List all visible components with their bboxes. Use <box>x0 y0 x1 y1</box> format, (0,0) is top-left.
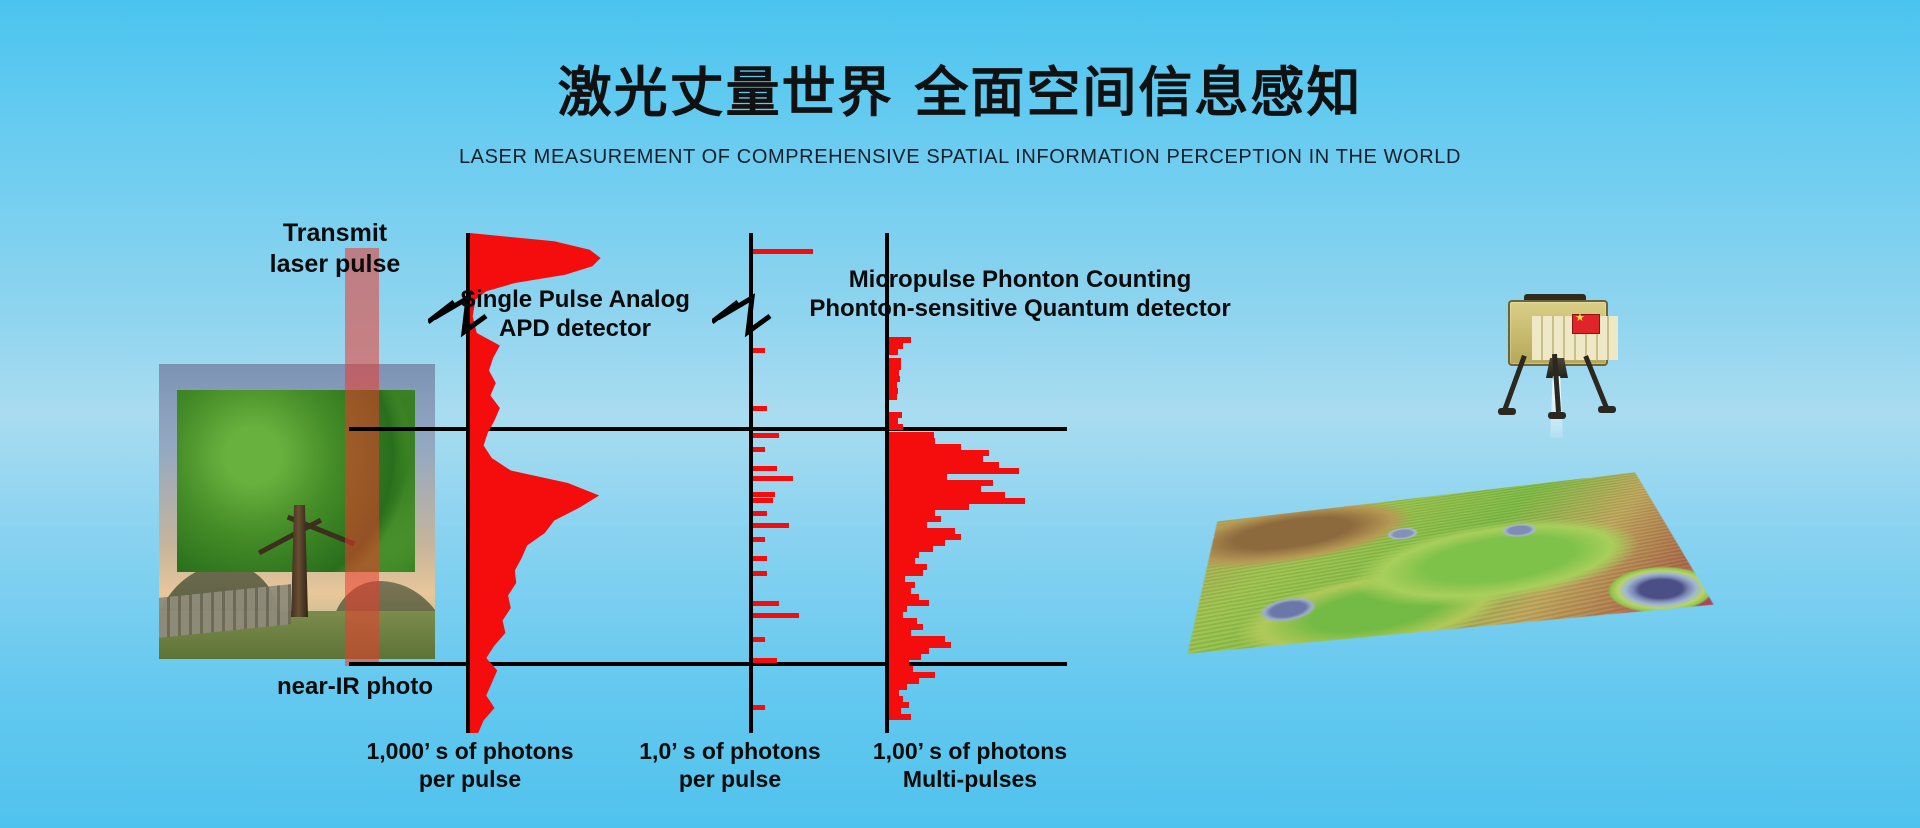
apd-detector-label: Single Pulse Analog APD detector <box>410 285 740 344</box>
histogram-bar <box>753 511 767 516</box>
photon-label-line2: per pulse <box>330 765 610 793</box>
transmit-label-line1: Transmit <box>230 218 440 249</box>
histogram-bar <box>753 556 767 561</box>
transmit-laser-pulse-label: Transmit laser pulse <box>230 218 440 279</box>
apd-label-line1: Single Pulse Analog <box>410 285 740 314</box>
histogram-bar <box>753 705 765 710</box>
histogram-bar <box>753 498 773 503</box>
histogram-bar <box>753 613 799 618</box>
apd-label-line2: APD detector <box>410 314 740 343</box>
lander-foot <box>1498 408 1516 415</box>
lander-foot <box>1598 406 1616 413</box>
histogram-bar <box>753 492 775 497</box>
reference-line-ground <box>349 662 1067 666</box>
histogram-bar <box>889 714 911 720</box>
histogram-bar <box>753 249 813 254</box>
photon-label-line1: 1,0’ s of photons <box>610 737 850 765</box>
page-title: 激光丈量世界 全面空间信息感知 <box>0 48 1920 127</box>
histogram-bar <box>753 466 777 471</box>
photon-count-label-sparse: 1,0’ s of photons per pulse <box>610 737 850 793</box>
histogram-bar <box>753 447 765 452</box>
poster-canvas: 激光丈量世界 全面空间信息感知 LASER MEASUREMENT OF COM… <box>0 0 1920 828</box>
transmit-label-line2: laser pulse <box>230 249 440 280</box>
lander-foot <box>1548 412 1566 419</box>
histogram-bar <box>889 424 903 430</box>
terrain-mesh <box>1186 458 1798 720</box>
page-subtitle: LASER MEASUREMENT OF COMPREHENSIVE SPATI… <box>0 146 1920 169</box>
histogram-bar <box>753 348 765 353</box>
histogram-bar <box>753 658 777 663</box>
histogram-bar <box>753 601 779 606</box>
photon-label-line2: per pulse <box>610 765 850 793</box>
micro-label-line2: Phonton-sensitive Quantum detector <box>790 294 1250 323</box>
histogram-bar <box>753 523 789 528</box>
photon-label-line1: 1,000’ s of photons <box>330 737 610 765</box>
near-ir-photo-label: near-IR photo <box>210 672 500 701</box>
photon-label-line2: Multi-pulses <box>845 765 1095 793</box>
histogram-bar <box>889 394 897 400</box>
histogram-bar <box>753 571 767 576</box>
near-ir-photo-image <box>159 364 435 659</box>
lunar-lander-model <box>1490 294 1620 434</box>
lunar-terrain-render <box>1190 290 1750 720</box>
micro-label-line1: Micropulse Phonton Counting <box>790 265 1250 294</box>
histogram-bar <box>753 433 779 438</box>
photon-label-line1: 1,00’ s of photons <box>845 737 1095 765</box>
photon-count-label-analog: 1,000’ s of photons per pulse <box>330 737 610 793</box>
reference-line-canopy-top <box>349 427 1067 431</box>
micropulse-detector-label: Micropulse Phonton Counting Phonton-sens… <box>790 265 1250 324</box>
histogram-bar <box>753 637 765 642</box>
histogram-bar <box>753 476 793 481</box>
photon-count-label-micropulse: 1,00’ s of photons Multi-pulses <box>845 737 1095 793</box>
laser-beam <box>345 248 379 666</box>
histogram-bar <box>889 349 898 355</box>
histogram-bar <box>753 537 765 542</box>
histogram-bar <box>753 406 767 411</box>
china-flag-icon <box>1572 314 1600 334</box>
